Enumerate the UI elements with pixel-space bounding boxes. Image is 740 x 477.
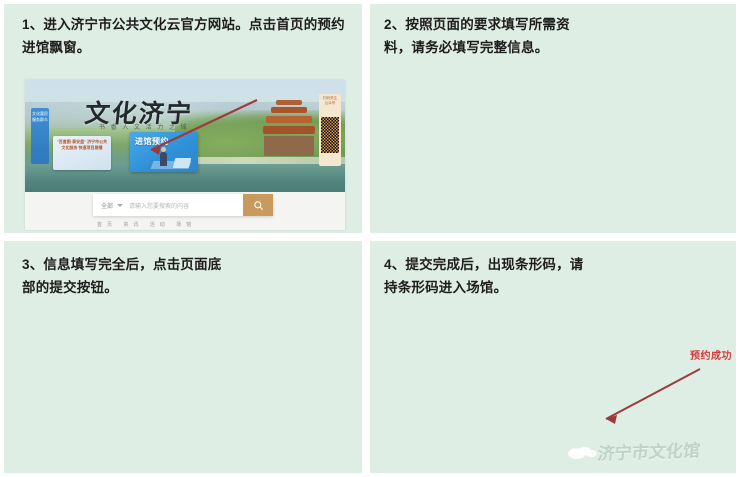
search-button[interactable] <box>243 194 273 216</box>
tutorial-infographic: 1、进入济宁市公共文化云官方网站。点击首页的预约进馆飘窗。 文化济宁 书 香 人… <box>0 0 740 477</box>
chevron-down-icon[interactable] <box>117 204 123 207</box>
annotation-label-success: 预约成功 <box>690 347 732 362</box>
promo-card[interactable]: "百度图·泰安盘" 济宁市公共文化服务 快速项目展播 <box>53 136 111 170</box>
float-popup-booking[interactable]: 进馆预约 <box>130 132 198 172</box>
panel-4-caption: 4、提交完成后，出现条形码，请持条形码进入场馆。 <box>384 253 584 299</box>
pagoda-icon <box>261 98 317 160</box>
search-icon <box>253 200 264 211</box>
float-popup-label: 进馆预约 <box>135 136 169 147</box>
qr-heading: 扫码关注 公众号 <box>321 96 339 116</box>
site-nav-row[interactable]: 首页 资讯 活动 场馆 <box>97 221 196 228</box>
panel-3-caption: 3、信息填写完全后，点击页面底部的提交按钮。 <box>22 253 222 299</box>
panel-step-2: 2、按照页面的要求填写所需资料，请务必填写完整信息。 十月 2022 一 二 三… <box>370 4 736 233</box>
float-popup-illustration <box>152 147 192 169</box>
panel-step-1: 1、进入济宁市公共文化云官方网站。点击首页的预约进馆飘窗。 文化济宁 书 香 人… <box>4 4 362 233</box>
search-category[interactable]: 全部 <box>93 201 117 210</box>
panel-step-3: 3、信息填写完全后，点击页面底部的提交按钮。 2425262728293031 … <box>4 241 362 473</box>
site-search-bar[interactable]: 全部 请输入您要搜索的内容 <box>93 194 273 216</box>
qr-code-panel[interactable]: 扫码关注 公众号 <box>319 94 341 166</box>
panel-step-4: 4、提交完成后，出现条形码，请持条形码进入场馆。 济宁市文化馆 预约信息 预约成… <box>370 241 736 473</box>
qr-code-icon <box>321 117 339 153</box>
hero-subtitle: 书 香 人 文 活 力 之 城 <box>99 122 189 131</box>
panel-2-caption: 2、按照页面的要求填写所需资料，请务必填写完整信息。 <box>384 13 579 59</box>
panel-1-caption: 1、进入济宁市公共文化云官方网站。点击首页的预约进馆飘窗。 <box>22 13 347 59</box>
website-screenshot: 文化济宁 书 香 人 文 活 力 之 城 文化惠民 服务群众 "百度图·泰安盘"… <box>25 80 345 230</box>
left-vertical-banner[interactable]: 文化惠民 服务群众 <box>31 108 49 164</box>
hero-banner: 文化济宁 书 香 人 文 活 力 之 城 文化惠民 服务群众 "百度图·泰安盘"… <box>25 80 345 192</box>
search-input[interactable]: 请输入您要搜索的内容 <box>129 201 243 210</box>
